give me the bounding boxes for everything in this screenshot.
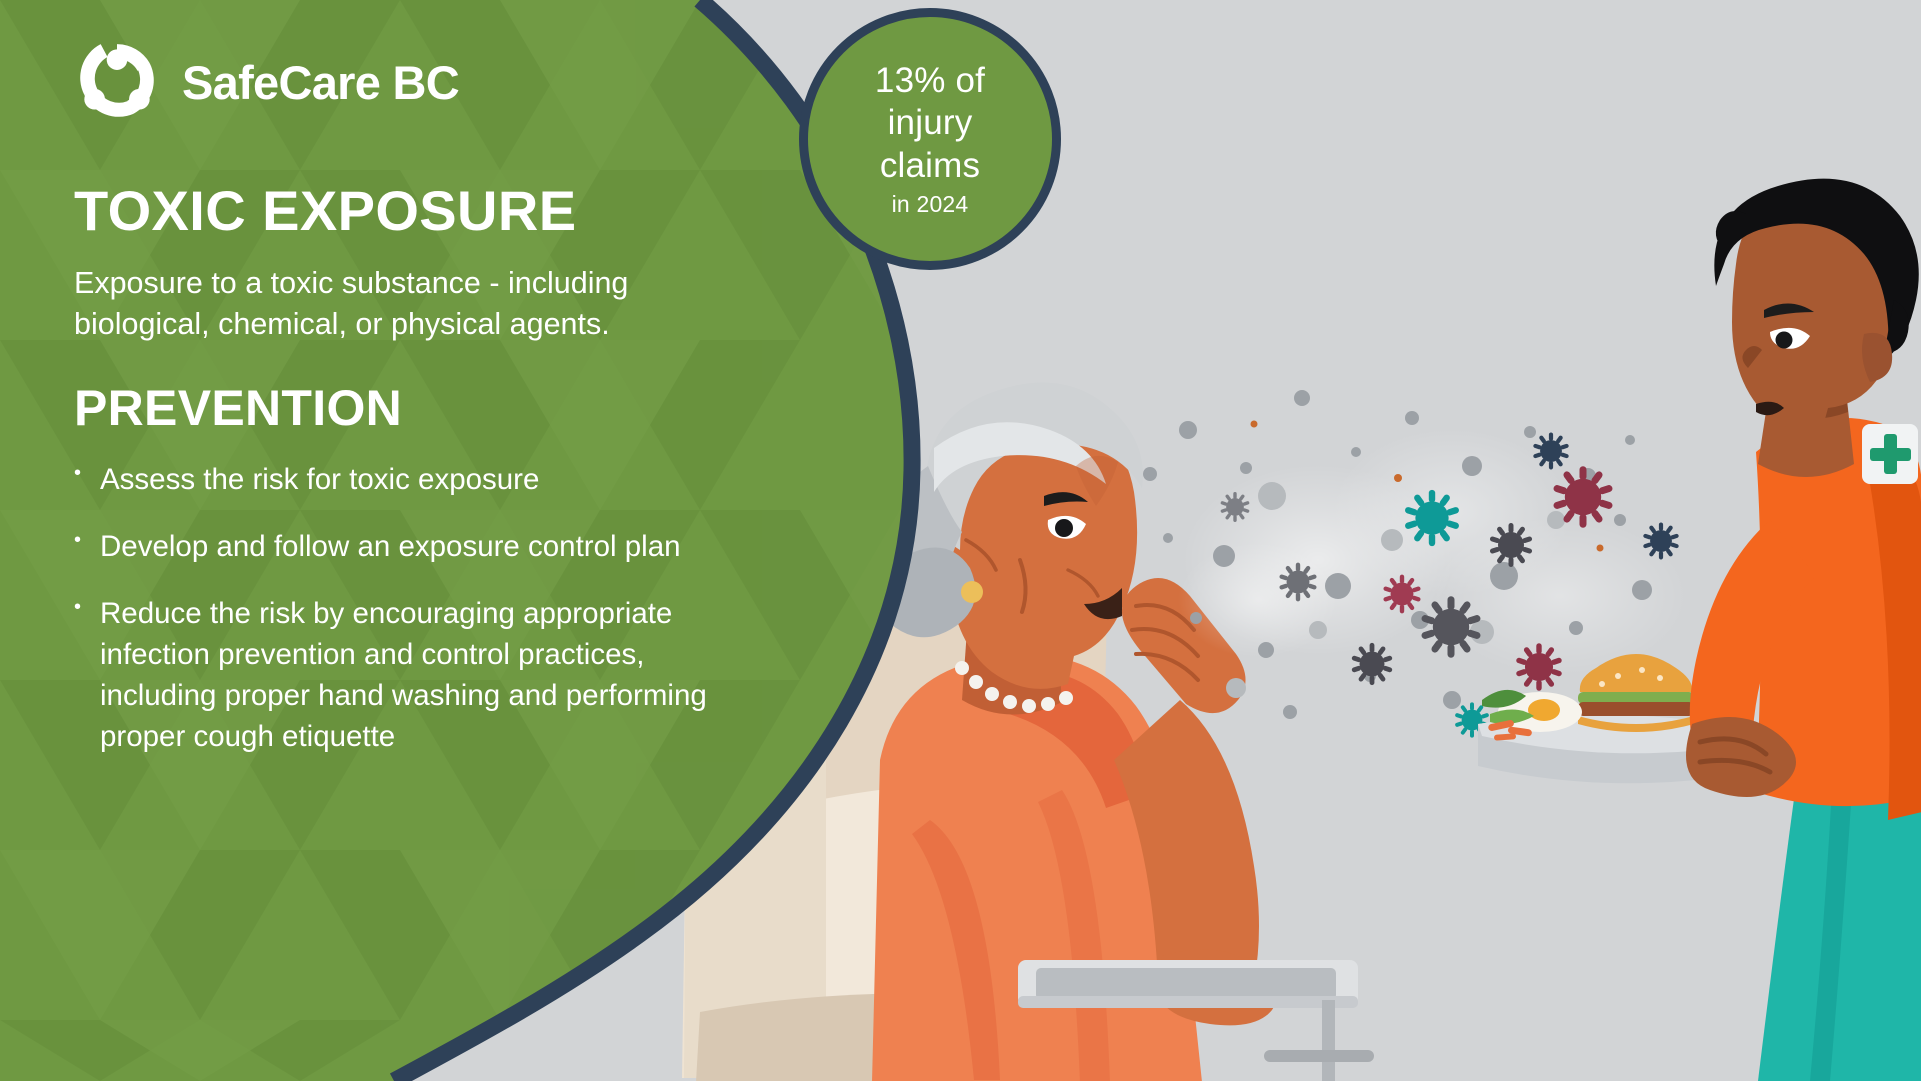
brand-wordmark: SafeCare BC <box>182 59 459 106</box>
description-text: Exposure to a toxic substance - includin… <box>74 263 746 344</box>
poster-canvas: SafeCare BC TOXIC EXPOSURE Exposure to a… <box>0 0 1921 1081</box>
list-item: Develop and follow an exposure control p… <box>74 526 714 567</box>
stat-badge-value: 13% of injury claims <box>808 60 1052 188</box>
stat-badge-period: in 2024 <box>892 191 969 219</box>
page-title: TOXIC EXPOSURE <box>74 182 860 239</box>
brand-logo: SafeCare BC <box>74 34 860 130</box>
prevention-list: Assess the risk for toxic exposure Devel… <box>74 459 860 757</box>
stat-badge: 13% of injury claims in 2024 <box>799 8 1061 270</box>
list-item: Reduce the risk by encouraging appropria… <box>74 593 714 757</box>
prevention-heading: PREVENTION <box>74 383 860 433</box>
three-people-circle-logo-icon <box>74 39 160 125</box>
list-item: Assess the risk for toxic exposure <box>74 459 714 500</box>
